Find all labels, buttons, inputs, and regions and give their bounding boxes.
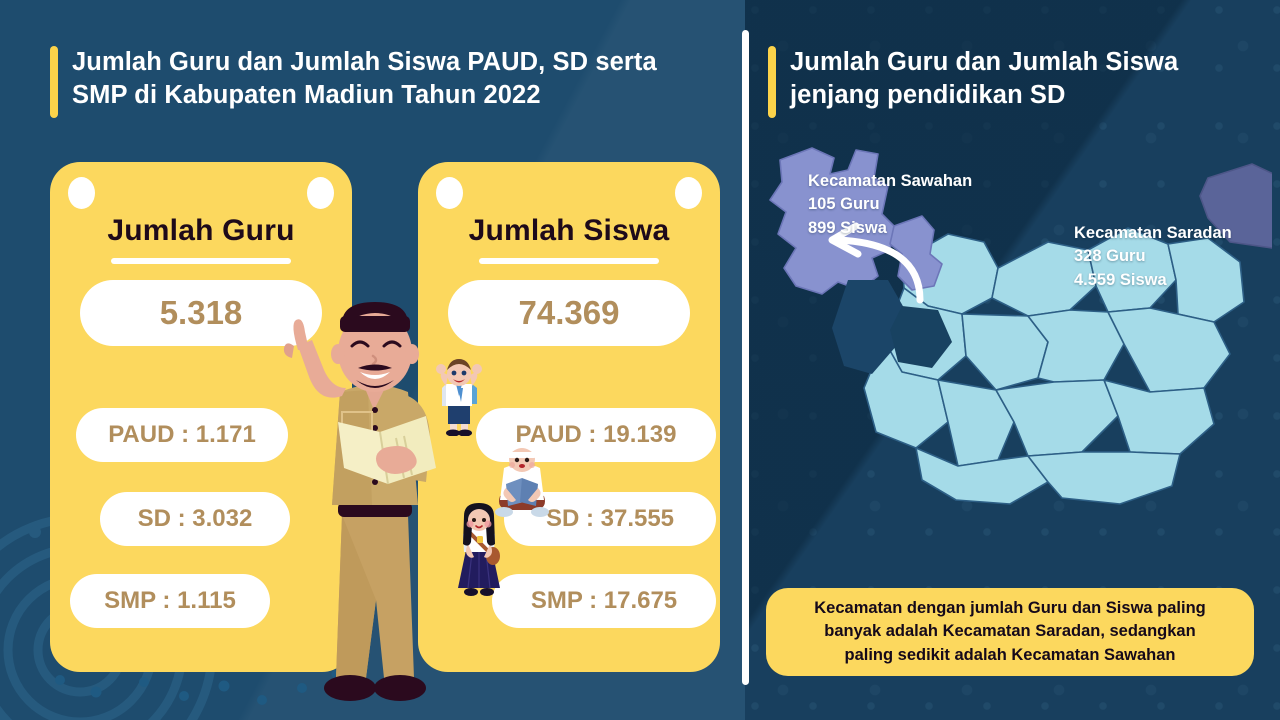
- left-heading-text: Jumlah Guru dan Jumlah Siswa PAUD, SD se…: [72, 46, 657, 112]
- card-guru-row-paud: PAUD : 1.171: [76, 408, 288, 462]
- right-section-heading: Jumlah Guru dan Jumlah Siswa jenjang pen…: [768, 46, 1238, 118]
- map-district-14: [1028, 452, 1180, 504]
- card-guru-row-sd: SD : 3.032: [100, 492, 290, 546]
- right-heading-text: Jumlah Guru dan Jumlah Siswa jenjang pen…: [790, 46, 1178, 112]
- card-hole-right-icon: [675, 177, 702, 209]
- card-siswa-title: Jumlah Siswa: [418, 214, 720, 248]
- map-label-saradan: Kecamatan Saradan 328 Guru 4.559 Siswa: [1074, 222, 1232, 292]
- student-smp-illustration: [448, 502, 510, 600]
- accent-bar-left: [50, 46, 58, 118]
- map-summary-caption: Kecamatan dengan jumlah Guru dan Siswa p…: [766, 588, 1254, 676]
- map-district-12: [1104, 380, 1214, 454]
- card-hole-right-icon: [307, 177, 334, 209]
- card-hole-left-icon: [436, 177, 463, 209]
- card-guru-row-smp: SMP : 1.115: [70, 574, 270, 628]
- card-siswa-total: 74.369: [448, 280, 690, 346]
- card-guru-underline: [111, 258, 291, 264]
- student-paud-illustration: [428, 358, 490, 436]
- map-district-11: [996, 380, 1118, 456]
- card-siswa-underline: [479, 258, 659, 264]
- card-siswa-row-smp: SMP : 17.675: [492, 574, 716, 628]
- card-hole-left-icon: [68, 177, 95, 209]
- left-section-heading: Jumlah Guru dan Jumlah Siswa PAUD, SD se…: [50, 46, 730, 118]
- map-label-sawahan: Kecamatan Sawahan 105 Guru 899 Siswa: [808, 170, 972, 240]
- accent-bar-right: [768, 46, 776, 118]
- card-guru-title: Jumlah Guru: [50, 214, 352, 248]
- vertical-divider: [742, 30, 749, 685]
- infographic-canvas: Jumlah Guru dan Jumlah Siswa PAUD, SD se…: [0, 0, 1280, 720]
